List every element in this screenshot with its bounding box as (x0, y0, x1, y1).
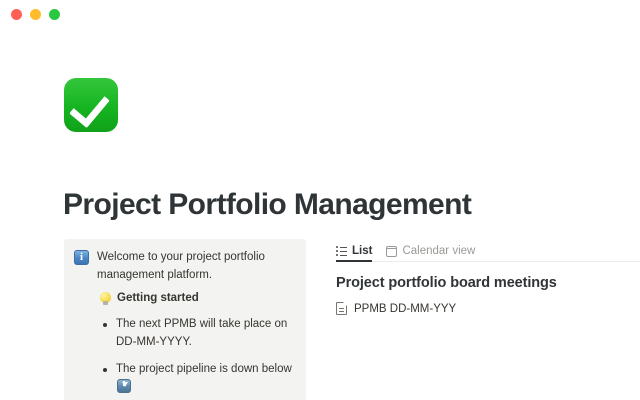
bullet-text: The next PPMB will take place on DD-MM-Y… (116, 318, 287, 348)
callout-block[interactable]: Welcome to your project portfolio manage… (64, 239, 306, 400)
list-item: The next PPMB will take place on DD-MM-Y… (116, 316, 294, 352)
table-row[interactable]: PPMB DD-MM-YYY (336, 302, 640, 315)
callout-welcome-text: Welcome to your project portfolio manage… (97, 249, 294, 285)
content-columns: Welcome to your project portfolio manage… (0, 239, 640, 400)
right-column: List Calendar view Project portfolio boa… (306, 239, 640, 400)
getting-started-label: Getting started (117, 290, 199, 308)
information-icon (74, 250, 89, 265)
tab-calendar-view[interactable]: Calendar view (386, 245, 475, 261)
page-content: Project Portfolio Management Welcome to … (0, 28, 640, 400)
list-view-icon (336, 246, 347, 257)
tab-calendar-view-label: Calendar view (402, 245, 475, 257)
tab-list-label: List (352, 245, 372, 257)
getting-started-heading: Getting started (74, 290, 294, 308)
down-arrow-icon (117, 379, 131, 393)
calendar-view-icon (386, 246, 397, 257)
database-view-tabs: List Calendar view (336, 239, 640, 262)
list-item: The project pipeline is down below (116, 361, 294, 397)
window-titlebar (0, 0, 640, 28)
white-check-mark-icon (64, 78, 118, 132)
page-title[interactable]: Project Portfolio Management (63, 187, 471, 223)
database-title[interactable]: Project portfolio board meetings (336, 275, 640, 291)
page-icon[interactable] (64, 78, 118, 132)
bullet-text: The project pipeline is down below (116, 363, 292, 375)
callout-bullet-list: The next PPMB will take place on DD-MM-Y… (74, 316, 294, 396)
table-row-label: PPMB DD-MM-YYY (354, 303, 456, 315)
traffic-lights (11, 9, 60, 20)
callout-header: Welcome to your project portfolio manage… (74, 249, 294, 285)
tab-list[interactable]: List (336, 245, 372, 261)
left-column: Welcome to your project portfolio manage… (0, 239, 306, 400)
page-document-icon (336, 302, 347, 315)
close-button[interactable] (11, 9, 22, 20)
minimize-button[interactable] (30, 9, 41, 20)
light-bulb-icon (100, 292, 111, 306)
zoom-button[interactable] (49, 9, 60, 20)
